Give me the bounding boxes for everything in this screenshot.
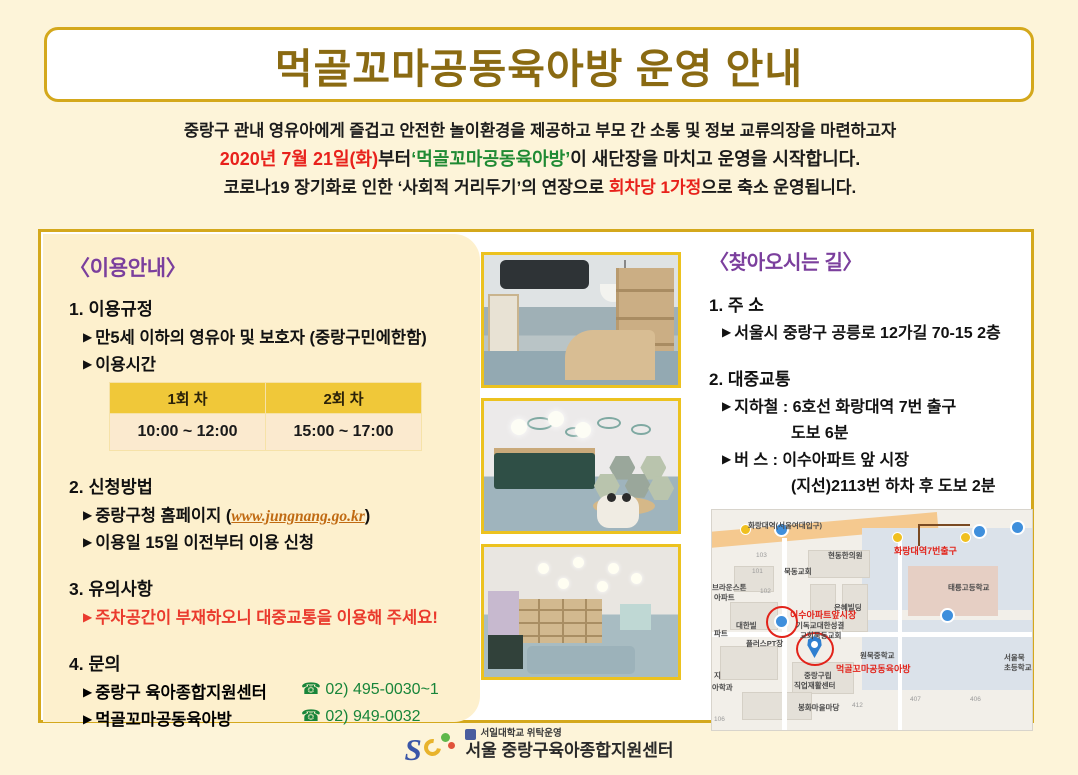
- intro-paragraph: 중랑구 관내 영유아에게 즐겁고 안전한 놀이환경을 제공하고 부모 간 소통 …: [50, 118, 1030, 201]
- notice-title: 3. 유의사항: [69, 576, 466, 601]
- map-label: 아학과: [712, 682, 733, 693]
- contact-phone-center[interactable]: ☎ 02) 495-0030~1: [301, 679, 439, 703]
- intro-tail: 이 새단장을 마치고 운영을 시작합니다.: [570, 149, 860, 169]
- intro-line3-tail: 으로 축소 운영됩니다.: [701, 178, 856, 197]
- map-red-label-facility: 먹골꼬마공동육아방: [836, 662, 911, 675]
- bullet-triangle-icon: ▶: [83, 535, 92, 549]
- session-1-header: 1회 차: [110, 383, 266, 414]
- main-panel: 〈이용안내〉 1. 이용규정 ▶만5세 이하의 영유아 및 보호자 (중랑구민에…: [38, 229, 1034, 723]
- map-number: 412: [852, 702, 863, 709]
- footer-org-name: 서울 중랑구육아종합지원센터: [465, 740, 673, 761]
- intro-mid-1: 부터: [378, 149, 411, 169]
- footer-logo: S 서일대학교 위탁운영 서울 중랑구육아종합지원센터: [0, 728, 1078, 762]
- address-value: ▶서울시 중랑구 공릉로 12가길 70-15 2층: [709, 319, 1031, 343]
- bullet-triangle-icon: ▶: [83, 685, 92, 699]
- contact-row: ▶먹골꼬마공동육아방 ☎ 02) 949-0032: [69, 706, 466, 730]
- footer-text-block: 서일대학교 위탁운영 서울 중랑구육아종합지원센터: [465, 728, 673, 761]
- map-label: 원묵중학교: [860, 650, 895, 661]
- transit-subway: ▶지하철 : 6호선 화랑대역 7번 출구: [709, 393, 1031, 417]
- table-header-row: 1회 차 2회 차: [110, 383, 422, 414]
- usage-rule-title: 1. 이용규정: [69, 296, 466, 321]
- map-label: 파트: [714, 628, 728, 639]
- photo-play-kitchen-area: [481, 398, 681, 534]
- map-label: 지: [714, 670, 721, 681]
- bullet-triangle-icon: ▶: [83, 610, 92, 624]
- title-banner: 먹골꼬마공동육아방 운영 안내: [44, 27, 1034, 102]
- map-label: 교회묵동교회: [800, 630, 841, 641]
- session-2-time: 15:00 ~ 17:00: [266, 414, 422, 451]
- usage-guide-heading: 〈이용안내〉: [69, 252, 466, 282]
- bullet-triangle-icon: ▶: [83, 357, 92, 371]
- map-label: 화랑대역(서울여대입구): [748, 520, 822, 531]
- apply-method-title: 2. 신청방법: [69, 474, 466, 499]
- map-label: 대한빌: [736, 620, 757, 631]
- inquiry-title: 4. 문의: [69, 651, 466, 676]
- page-title: 먹골꼬마공동육아방 운영 안내: [275, 35, 803, 95]
- map-label: 초등학교: [1004, 662, 1032, 673]
- map-label: 묵동교회: [784, 566, 812, 577]
- transit-subway-walk: 도보 6분: [709, 419, 1031, 443]
- map-label: 직업재활센터: [794, 680, 835, 691]
- facility-photo-strip: [481, 252, 685, 690]
- bullet-triangle-icon: ▶: [722, 399, 731, 413]
- map-number: 406: [970, 696, 981, 703]
- map-label: 아파트: [714, 592, 735, 603]
- map-number: 102: [760, 588, 771, 595]
- directions-heading: 〈찾아오시는 길〉: [709, 246, 1031, 275]
- map-red-label-subway-exit: 화랑대역7번출구: [894, 544, 957, 557]
- apply-website-row: ▶중랑구청 홈페이지 (www.jungnang.go.kr): [69, 502, 466, 526]
- intro-line-3: 코로나19 장기화로 인한 ‘사회적 거리두기’의 연장으로 회차당 1가정으로…: [50, 174, 1030, 202]
- intro-line-1: 중랑구 관내 영유아에게 즐겁고 안전한 놀이환경을 제공하고 부모 간 소통 …: [50, 118, 1030, 145]
- map-number: 407: [910, 696, 921, 703]
- usage-guide-column: 〈이용안내〉 1. 이용규정 ▶만5세 이하의 영유아 및 보호자 (중랑구민에…: [43, 234, 480, 722]
- university-seal-icon: [465, 729, 476, 740]
- address-title: 1. 주 소: [709, 291, 1031, 316]
- bullet-triangle-icon: ▶: [83, 330, 92, 344]
- intro-capacity-note: 회차당 1가정: [609, 178, 701, 197]
- schedule-table: 1회 차 2회 차 10:00 ~ 12:00 15:00 ~ 17:00: [109, 382, 422, 451]
- photo-reception-area: [481, 252, 681, 388]
- contact-name-room: ▶먹골꼬마공동육아방: [83, 706, 301, 730]
- bullet-triangle-icon: ▶: [83, 508, 92, 522]
- map-number: 101: [752, 568, 763, 575]
- transit-title: 2. 대중교통: [709, 365, 1031, 390]
- session-1-time: 10:00 ~ 12:00: [110, 414, 266, 451]
- session-2-header: 2회 차: [266, 383, 422, 414]
- photo-reading-library-area: [481, 544, 681, 680]
- contact-name-center: ▶중랑구 육아종합지원센터: [83, 679, 301, 703]
- map-label: 태릉고등학교: [948, 582, 989, 593]
- map-number: 106: [714, 716, 725, 723]
- bullet-triangle-icon: ▶: [722, 325, 731, 339]
- usage-hours-label: ▶이용시간: [69, 351, 466, 375]
- transit-bus: ▶버 스 : 이수아파트 앞 시장: [709, 446, 1031, 470]
- contact-row: ▶중랑구 육아종합지원센터 ☎ 02) 495-0030~1: [69, 679, 466, 703]
- map-label: 플러스PT장: [746, 638, 783, 649]
- directions-column: 〈찾아오시는 길〉 1. 주 소 ▶서울시 중랑구 공릉로 12가길 70-15…: [701, 246, 1031, 731]
- center-logo-icon: S: [404, 728, 456, 762]
- map-label: 현동한의원: [828, 550, 863, 561]
- map-red-label-bus-stop: 이수아파트앞시장: [790, 608, 856, 621]
- parking-warning: ▶주차공간이 부재하오니 대중교통을 이용해 주세요!: [69, 604, 466, 628]
- map-number: 103: [756, 552, 767, 559]
- table-row: 10:00 ~ 12:00 15:00 ~ 17:00: [110, 414, 422, 451]
- transit-bus-walk: (지선)2113번 하차 후 도보 2분: [709, 472, 1031, 496]
- intro-start-date: 2020년 7월 21일(화): [220, 149, 378, 169]
- usage-rule-age: ▶만5세 이하의 영유아 및 보호자 (중랑구민에한함): [69, 324, 466, 348]
- location-map[interactable]: 화랑대역(서울여대입구) 현동한의원 묵동교회 은혜빌딩 기독교대한성결 교회묵…: [711, 509, 1033, 731]
- jungnang-website-link[interactable]: www.jungnang.go.kr: [231, 508, 364, 525]
- intro-facility-name: ‘먹골꼬마공동육아방’: [411, 149, 570, 169]
- apply-deadline: ▶이용일 15일 이전부터 이용 신청: [69, 529, 466, 553]
- map-label: 봉화마을마당: [798, 702, 839, 713]
- bullet-triangle-icon: ▶: [83, 712, 92, 726]
- intro-line3-head: 코로나19 장기화로 인한 ‘사회적 거리두기’의 연장으로: [224, 178, 604, 197]
- contact-phone-room[interactable]: ☎ 02) 949-0032: [301, 706, 421, 730]
- bullet-triangle-icon: ▶: [722, 452, 731, 466]
- intro-line-2: 2020년 7월 21일(화)부터‘먹골꼬마공동육아방’이 새단장을 마치고 운…: [50, 145, 1030, 174]
- footer-operator-line: 서일대학교 위탁운영: [465, 728, 673, 740]
